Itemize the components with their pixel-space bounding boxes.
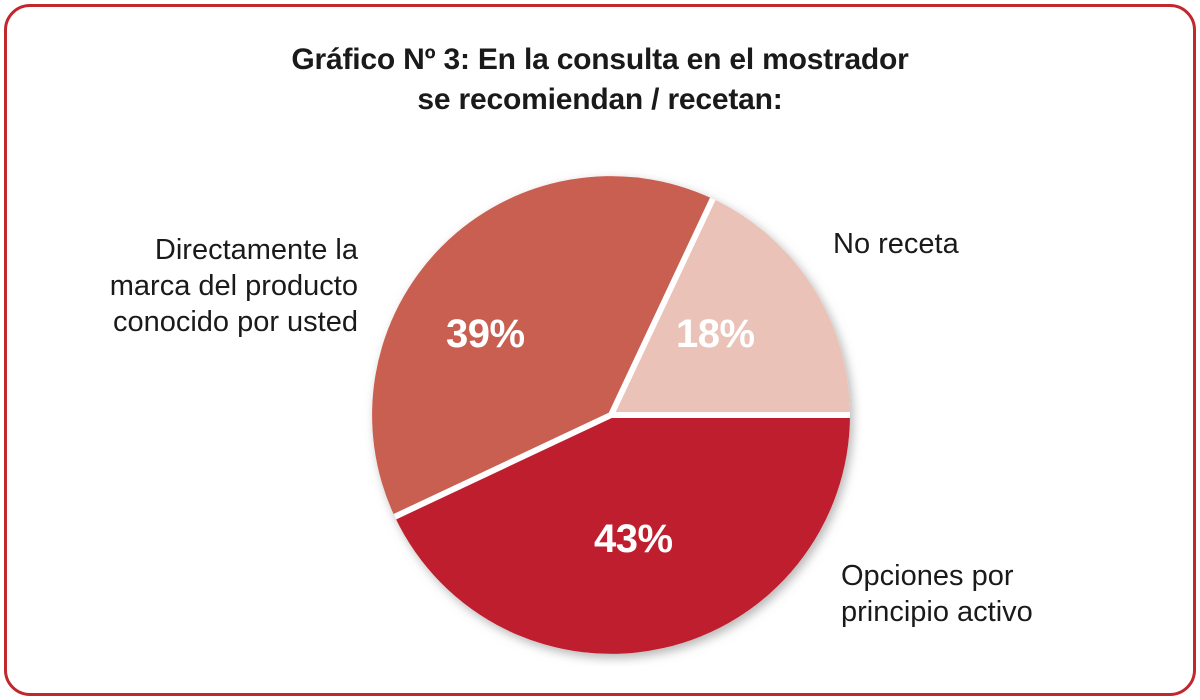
pie-chart-svg xyxy=(362,166,862,666)
category-label-principio-activo-line-1: Opciones por xyxy=(841,558,1033,594)
category-label-principio-activo-line-2: principio activo xyxy=(841,594,1033,630)
category-label-principio-activo: Opciones por principio activo xyxy=(841,558,1033,630)
category-label-no-receta-line-1: No receta xyxy=(833,226,959,262)
category-label-marca-producto-line-1: Directamente la xyxy=(58,232,358,268)
category-label-marca-producto-line-2: marca del producto xyxy=(58,268,358,304)
category-label-marca-producto: Directamente la marca del producto conoc… xyxy=(58,232,358,340)
category-label-no-receta: No receta xyxy=(833,226,959,262)
category-label-marca-producto-line-3: conocido por usted xyxy=(58,304,358,340)
slice-value-43: 43% xyxy=(594,517,673,562)
title-line-1: Gráfico Nº 3: En la consulta en el mostr… xyxy=(0,40,1200,80)
title-line-2: se recomiendan / recetan: xyxy=(0,80,1200,120)
chart-figure: Gráfico Nº 3: En la consulta en el mostr… xyxy=(0,0,1200,700)
slice-value-39: 39% xyxy=(446,312,525,357)
pie-chart xyxy=(362,166,862,666)
slice-value-18: 18% xyxy=(676,312,755,357)
page-title: Gráfico Nº 3: En la consulta en el mostr… xyxy=(0,40,1200,120)
